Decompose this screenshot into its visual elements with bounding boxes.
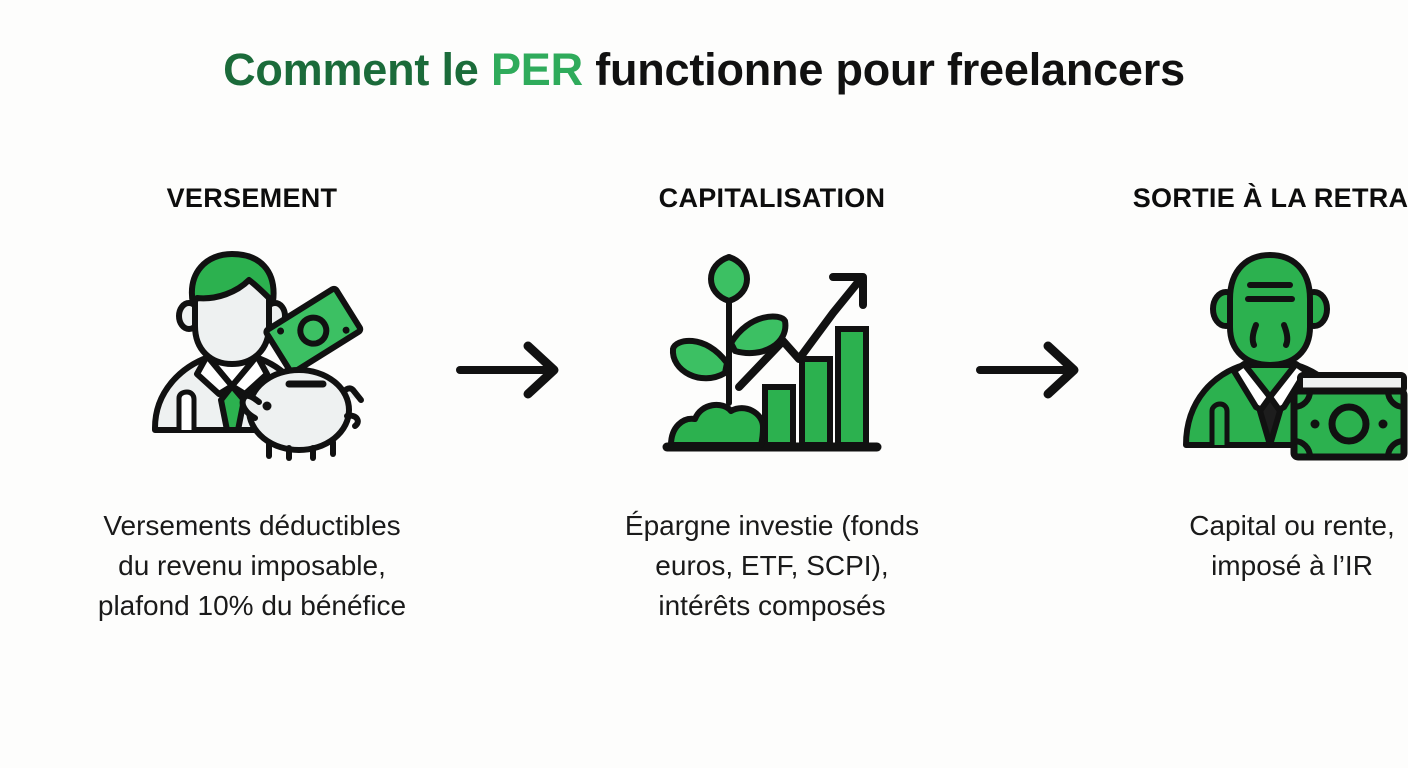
arrow-right-icon-2 [972, 180, 1092, 680]
steps-container: VERSEMENT [0, 180, 1408, 680]
step-capitalisation: CAPITALISATION [572, 180, 972, 626]
retired-person-with-cash-icon [1172, 244, 1408, 464]
step-heading-capitalisation: CAPITALISATION [659, 180, 886, 216]
step-caption-capitalisation: Épargne investie (fonds euros, ETF, SCPI… [572, 506, 972, 626]
title-part-green-dark: Comment le [223, 44, 491, 95]
arrow-right-icon-1 [452, 180, 572, 680]
step-sortie-a-la-retraite: SORTIE À LA RETRAITE [1092, 180, 1408, 586]
title-part-black: functionne pour freelancers [583, 44, 1185, 95]
step-versement: VERSEMENT [52, 180, 452, 626]
infographic-canvas: Comment le PER functionne pour freelance… [0, 0, 1408, 768]
person-with-piggy-bank-icon [137, 244, 367, 464]
step-heading-versement: VERSEMENT [167, 180, 338, 216]
page-title: Comment le PER functionne pour freelance… [0, 44, 1408, 96]
step-heading-sortie: SORTIE À LA RETRAITE [1133, 180, 1408, 216]
title-part-green: PER [491, 44, 583, 95]
step-caption-sortie: Capital ou rente, imposé à l’IR [1092, 506, 1408, 586]
plant-growth-bar-chart-icon [657, 244, 887, 464]
step-caption-versement: Versements déductibles du revenu imposab… [52, 506, 452, 626]
